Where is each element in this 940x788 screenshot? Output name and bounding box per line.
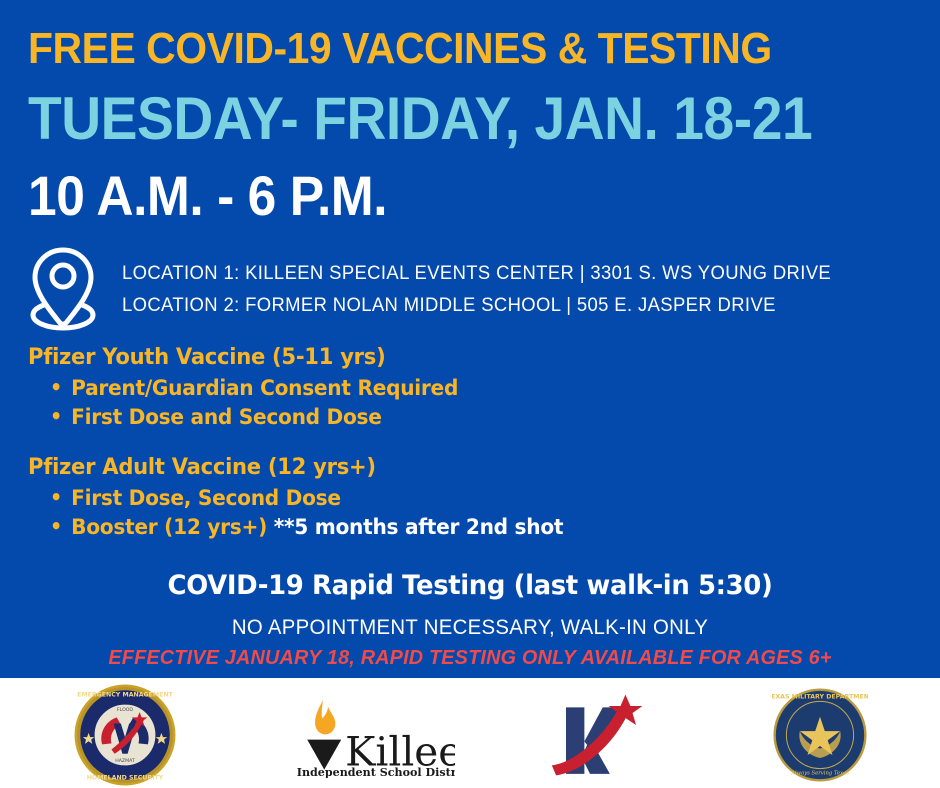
rapid-testing-note: EFFECTIVE JANUARY 18, RAPID TESTING ONLY… bbox=[5, 647, 936, 670]
city-of-killeen-k-logo bbox=[539, 689, 651, 781]
headline-hours: 10 A.M. - 6 P.M. bbox=[28, 163, 387, 228]
list-item: Parent/Guardian Consent Required bbox=[50, 374, 458, 403]
logo-slot-killeen-isd: Killeen Independent School District bbox=[250, 692, 490, 778]
rapid-testing-title: COVID-19 Rapid Testing (last walk-in 5:3… bbox=[19, 570, 921, 601]
adult-vaccine-section: Pfizer Adult Vaccine (12 yrs+) First Dos… bbox=[28, 455, 585, 543]
texas-military-department-seal: TEXAS MILITARY DEPARTMENT Always Serving… bbox=[772, 687, 868, 783]
rapid-testing-subtitle: NO APPOINTMENT NECESSARY, WALK-IN ONLY bbox=[14, 616, 926, 640]
logo-slot-texas-military-department: TEXAS MILITARY DEPARTMENT Always Serving… bbox=[700, 687, 940, 783]
headline-primary: FREE COVID-19 VACCINES & TESTING bbox=[28, 24, 772, 74]
list-item-text: Booster (12 yrs+) bbox=[71, 515, 274, 539]
flyer-poster: FREE COVID-19 VACCINES & TESTING TUESDAY… bbox=[0, 0, 940, 788]
svg-text:Always Serving Texas: Always Serving Texas bbox=[790, 770, 849, 776]
logo-slot-emergency-management: EMERGENCY MANAGEMENT HOMELAND SECURITY F… bbox=[0, 683, 250, 787]
location-line-1: LOCATION 1: KILLEEN SPECIAL EVENTS CENTE… bbox=[122, 263, 831, 285]
headline-dates: TUESDAY- FRIDAY, JAN. 18-21 bbox=[28, 84, 812, 153]
location-line-2: LOCATION 2: FORMER NOLAN MIDDLE SCHOOL |… bbox=[122, 295, 831, 317]
youth-vaccine-section: Pfizer Youth Vaccine (5-11 yrs) Parent/G… bbox=[28, 345, 475, 433]
location-lines: LOCATION 1: KILLEEN SPECIAL EVENTS CENTE… bbox=[122, 259, 853, 317]
list-item: First Dose, Second Dose bbox=[50, 484, 563, 513]
map-pin-icon bbox=[26, 244, 100, 332]
list-item: First Dose and Second Dose bbox=[50, 403, 458, 432]
list-item-note: **5 months after 2nd shot bbox=[274, 515, 563, 539]
list-item-text: First Dose, Second Dose bbox=[71, 486, 341, 510]
list-item-text: Parent/Guardian Consent Required bbox=[71, 376, 458, 400]
svg-text:Independent School District: Independent School District bbox=[297, 766, 455, 778]
svg-text:HAZMAT: HAZMAT bbox=[115, 758, 135, 764]
logo-footer: EMERGENCY MANAGEMENT HOMELAND SECURITY F… bbox=[0, 681, 940, 788]
adult-vaccine-list: First Dose, Second Dose Booster (12 yrs+… bbox=[28, 484, 585, 543]
emergency-management-homeland-security-seal: EMERGENCY MANAGEMENT HOMELAND SECURITY F… bbox=[73, 683, 177, 787]
logo-slot-city-of-killeen bbox=[490, 689, 700, 781]
svg-text:TEXAS MILITARY DEPARTMENT: TEXAS MILITARY DEPARTMENT bbox=[772, 693, 868, 700]
location-block: LOCATION 1: KILLEEN SPECIAL EVENTS CENTE… bbox=[26, 244, 853, 332]
svg-text:FLOOD: FLOOD bbox=[117, 707, 133, 713]
svg-text:HOMELAND SECURITY: HOMELAND SECURITY bbox=[87, 774, 164, 781]
youth-vaccine-heading: Pfizer Youth Vaccine (5-11 yrs) bbox=[28, 345, 457, 370]
adult-vaccine-heading: Pfizer Adult Vaccine (12 yrs+) bbox=[28, 455, 562, 480]
youth-vaccine-list: Parent/Guardian Consent Required First D… bbox=[28, 374, 475, 433]
list-item: Booster (12 yrs+) **5 months after 2nd s… bbox=[50, 513, 563, 542]
svg-text:EMERGENCY MANAGEMENT: EMERGENCY MANAGEMENT bbox=[77, 691, 174, 698]
killeen-isd-logo: Killeen Independent School District bbox=[285, 692, 455, 778]
list-item-text: First Dose and Second Dose bbox=[71, 405, 382, 429]
